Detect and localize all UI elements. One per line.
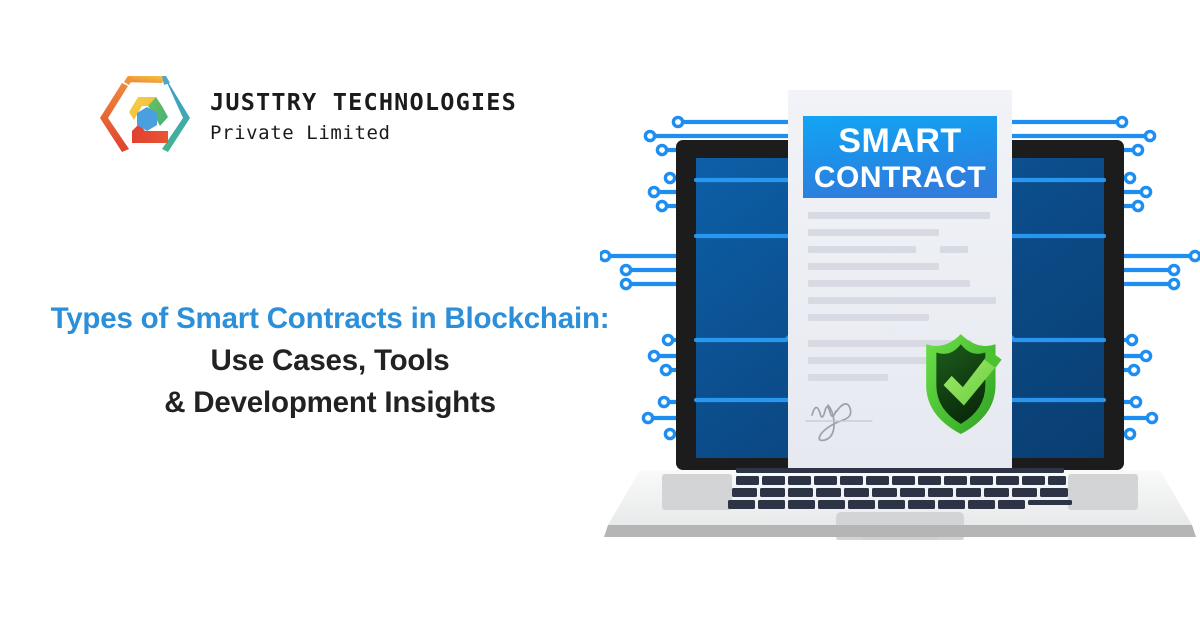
contract-document: SMART CONTRACT (788, 90, 1012, 470)
illustration-svg: SMART CONTRACT (600, 40, 1200, 540)
banner-graphic: JUSTTRY TECHNOLOGIES Private Limited Typ… (0, 0, 1200, 628)
page-title: Types of Smart Contracts in Blockchain: … (0, 298, 660, 424)
banner-title-line-1: SMART (838, 122, 961, 160)
title-line-2: Use Cases, Tools (0, 340, 660, 382)
brand-name: JUSTTRY TECHNOLOGIES (210, 90, 517, 115)
laptop-base (604, 468, 1196, 540)
brand-subtitle: Private Limited (210, 122, 517, 144)
hexagon-chevron-logo-icon (98, 74, 196, 160)
title-line-3: & Development Insights (0, 382, 660, 424)
brand-logo-text: JUSTTRY TECHNOLOGIES Private Limited (210, 90, 517, 145)
title-line-1: Types of Smart Contracts in Blockchain: (0, 298, 660, 340)
brand-logo: JUSTTRY TECHNOLOGIES Private Limited (98, 74, 517, 160)
laptop-smart-contract-illustration: SMART CONTRACT (600, 40, 1200, 540)
banner-title-line-2: CONTRACT (814, 161, 986, 194)
